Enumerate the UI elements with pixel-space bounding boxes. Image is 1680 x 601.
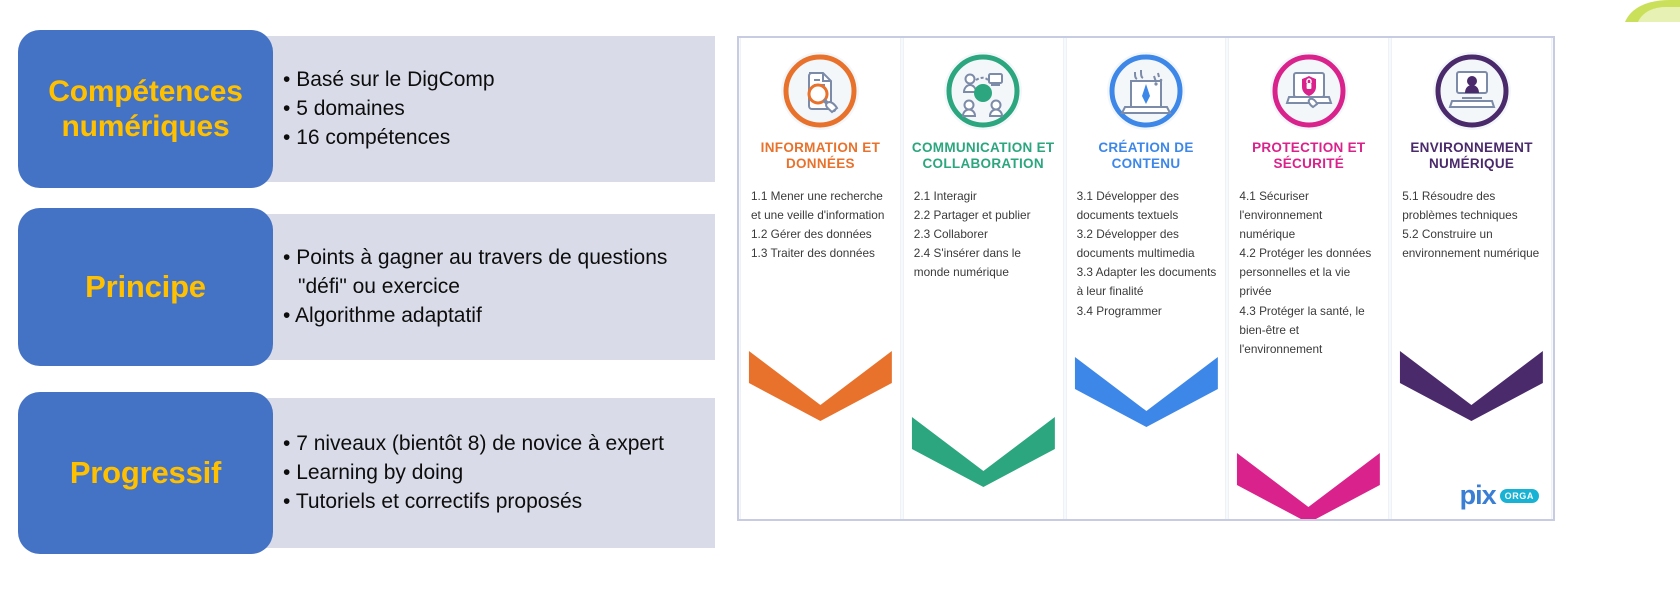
- list-item: 2.2 Partager et publier: [914, 206, 1055, 225]
- pix-orga-tag: ORGA: [1500, 489, 1539, 503]
- pill-label-line: Principe: [85, 269, 206, 306]
- label-pill-competences-numeriques: Compétences numériques: [18, 30, 273, 188]
- bullet-list-1: Basé sur le DigComp 5 domaines 16 compét…: [283, 65, 705, 153]
- domain-chevron: [741, 349, 900, 423]
- list-item: Tutoriels et correctifs proposés: [283, 488, 705, 516]
- summary-panel-3: 7 niveaux (bientôt 8) de novice à expert…: [265, 398, 715, 548]
- list-item: Basé sur le DigComp: [283, 66, 705, 94]
- domain-title: COMMUNICATION ET COLLABORATION: [910, 140, 1057, 173]
- domain-title: ENVIRONNEMENT NUMÉRIQUE: [1398, 140, 1545, 173]
- list-item: 3.4 Programmer: [1077, 302, 1218, 321]
- pill-label-line: Progressif: [70, 455, 221, 492]
- list-item: 2.3 Collaborer: [914, 225, 1055, 244]
- competence-list: 3.1 Développer des documents textuels 3.…: [1077, 187, 1218, 321]
- list-item: 5.1 Résoudre des problèmes techniques: [1402, 187, 1543, 225]
- domain-column-environnement-numerique[interactable]: ENVIRONNEMENT NUMÉRIQUE 5.1 Résoudre des…: [1391, 38, 1552, 519]
- competence-list: 4.1 Sécuriser l'environnement numérique …: [1239, 187, 1380, 359]
- domain-column-protection-et-securite[interactable]: PROTECTION ET SÉCURITÉ 4.1 Sécuriser l'e…: [1228, 38, 1389, 519]
- domain-title: CRÉATION DE CONTENU: [1073, 140, 1220, 173]
- list-item: 4.3 Protéger la santé, le bien-être et l…: [1239, 302, 1380, 359]
- list-item: 1.2 Gérer des données: [751, 225, 892, 244]
- laptop-pen-icon: [1107, 52, 1185, 130]
- list-item: 3.2 Développer des documents multimedia: [1077, 225, 1218, 263]
- list-item: 1.3 Traiter des données: [751, 244, 892, 263]
- label-pill-principe: Principe: [18, 208, 273, 366]
- list-item: 7 niveaux (bientôt 8) de novice à expert: [283, 430, 705, 458]
- left-summary-column: Basé sur le DigComp 5 domaines 16 compét…: [0, 0, 730, 601]
- list-item: 2.4 S'insérer dans le monde numérique: [914, 244, 1055, 282]
- list-item: 3.1 Développer des documents textuels: [1077, 187, 1218, 225]
- domain-chevron: [1229, 451, 1388, 519]
- list-item: 4.1 Sécuriser l'environnement numérique: [1239, 187, 1380, 244]
- list-item: 1.1 Mener une recherche et une veille d'…: [751, 187, 892, 225]
- document-magnifier-icon: [781, 52, 859, 130]
- pix-orga-logo: pix ORGA: [1460, 483, 1539, 507]
- list-item: 3.3 Adapter les documents à leur finalit…: [1077, 263, 1218, 301]
- competence-list: 1.1 Mener une recherche et une veille d'…: [751, 187, 892, 263]
- list-item: 5 domaines: [283, 95, 705, 123]
- domain-column-information-et-donnees[interactable]: INFORMATION ET DONNÉES 1.1 Mener une rec…: [740, 38, 901, 519]
- domain-chevron: [904, 415, 1063, 489]
- pill-label-2: Principe: [85, 269, 206, 306]
- summary-panel-1: Basé sur le DigComp 5 domaines 16 compét…: [265, 36, 715, 182]
- label-pill-progressif: Progressif: [18, 392, 273, 554]
- pill-label-line: numériques: [48, 109, 243, 144]
- pill-label-1: Compétences numériques: [48, 74, 243, 145]
- competence-list: 2.1 Interagir 2.2 Partager et publier 2.…: [914, 187, 1055, 283]
- person-computer-icon: [1433, 52, 1511, 130]
- pix-framework-card: INFORMATION ET DONNÉES 1.1 Mener une rec…: [737, 36, 1555, 521]
- slide-canvas: Basé sur le DigComp 5 domaines 16 compét…: [0, 0, 1680, 601]
- list-item: Learning by doing: [283, 459, 705, 487]
- domain-chevron: [1067, 355, 1226, 429]
- domain-column-communication-et-collaboration[interactable]: COMMUNICATION ET COLLABORATION 2.1 Inter…: [903, 38, 1064, 519]
- list-item: 5.2 Construire un environnement numériqu…: [1402, 225, 1543, 263]
- summary-panel-2: Points à gagner au travers de questions …: [265, 214, 715, 360]
- pix-wordmark: pix: [1460, 483, 1496, 507]
- domain-columns: INFORMATION ET DONNÉES 1.1 Mener une rec…: [739, 38, 1553, 519]
- decorative-leaf-icon: [1530, 0, 1680, 22]
- list-item: 2.1 Interagir: [914, 187, 1055, 206]
- people-network-icon: [944, 52, 1022, 130]
- bullet-list-2: Points à gagner au travers de questions …: [283, 243, 705, 331]
- shield-lock-screen-icon: [1270, 52, 1348, 130]
- domain-title: PROTECTION ET SÉCURITÉ: [1235, 140, 1382, 173]
- list-item: Algorithme adaptatif: [283, 302, 705, 330]
- pill-label-line: Compétences: [48, 74, 243, 109]
- domain-column-creation-de-contenu[interactable]: CRÉATION DE CONTENU 3.1 Développer des d…: [1066, 38, 1227, 519]
- competence-list: 5.1 Résoudre des problèmes techniques 5.…: [1402, 187, 1543, 263]
- list-item: 4.2 Protéger les données personnelles et…: [1239, 244, 1380, 301]
- domain-chevron: [1392, 349, 1551, 423]
- list-item: Points à gagner au travers de questions: [283, 244, 705, 272]
- list-item: 16 compétences: [283, 124, 705, 152]
- domain-title: INFORMATION ET DONNÉES: [747, 140, 894, 173]
- list-item-continuation: "défi" ou exercice: [283, 273, 705, 301]
- pill-label-3: Progressif: [70, 455, 221, 492]
- bullet-list-3: 7 niveaux (bientôt 8) de novice à expert…: [283, 429, 705, 517]
